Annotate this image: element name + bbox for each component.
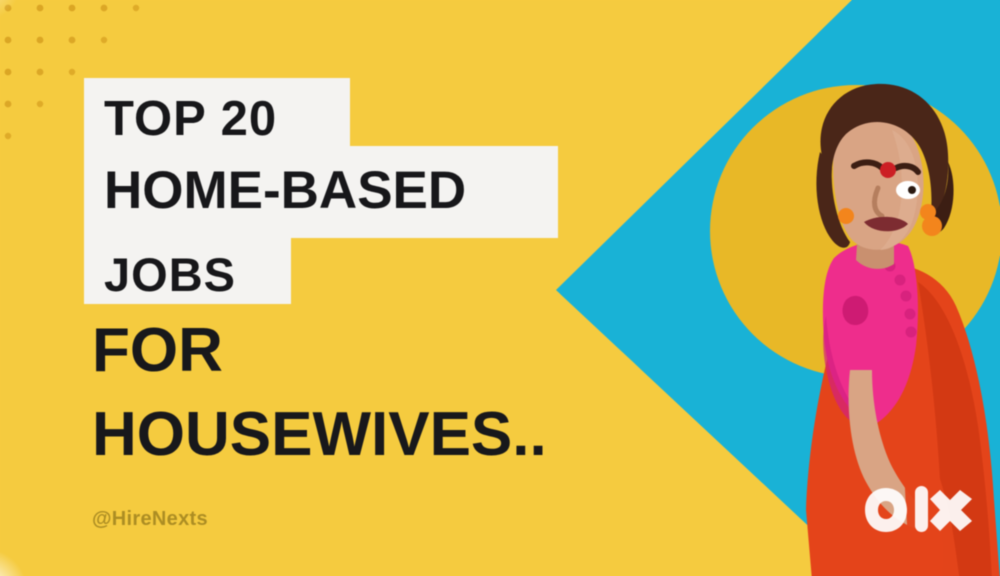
headline-line-jobs: JOBS [104,251,236,298]
top-left-corner-artifact [0,0,20,16]
olx-logo-icon [860,480,978,542]
headline-line-home-based: HOME-BASED [104,164,466,217]
bottom-left-corner-artifact [0,552,30,576]
poster-canvas: TOP 20 HOME-BASED JOBS FOR HOUSEWIVES.. … [0,0,1000,576]
social-handle: @HireNexts [92,508,208,531]
subject-line-housewives: HOUSEWIVES.. [92,404,547,466]
headline-line-top-20: TOP 20 [104,95,277,144]
subject-line-for: FOR [92,320,223,382]
